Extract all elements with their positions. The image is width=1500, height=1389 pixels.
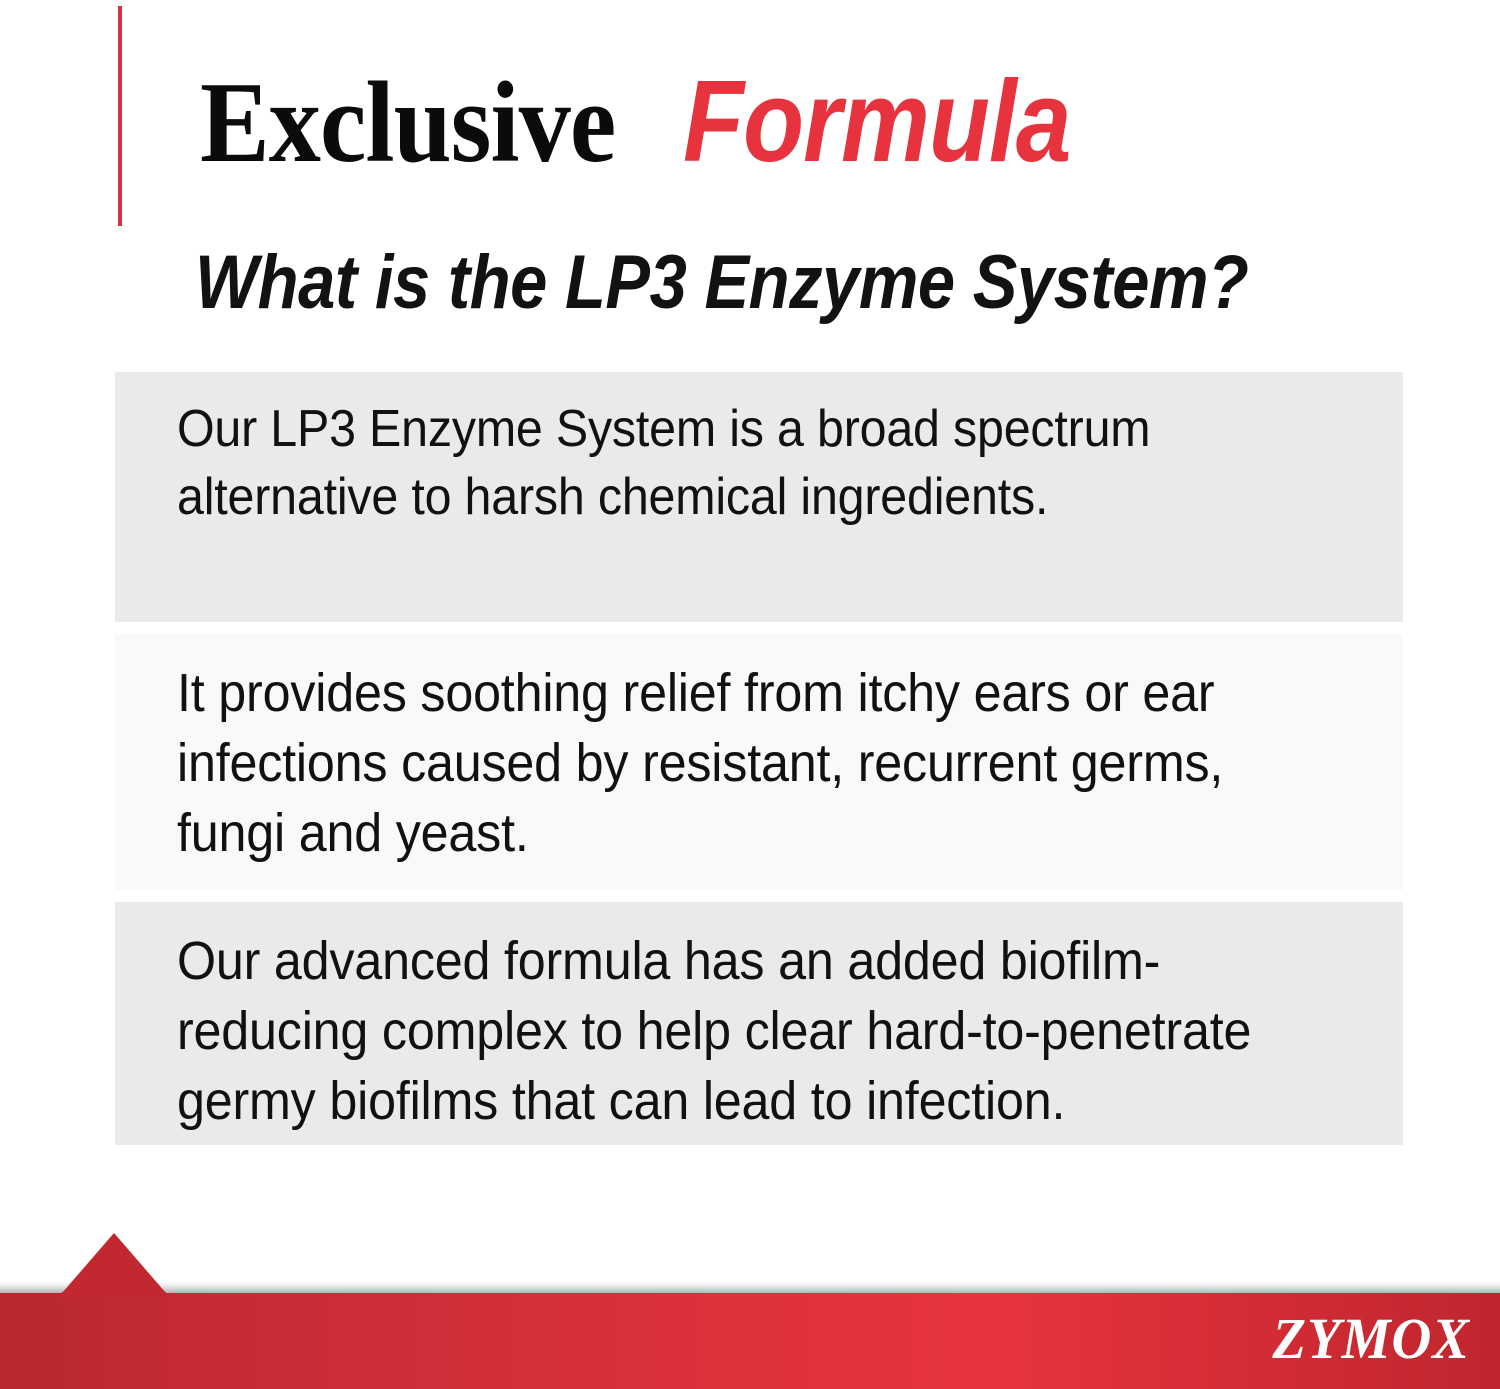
brand-logo-text: ZYMOX: [1272, 1308, 1470, 1370]
page-title: ExclusiveFormula: [200, 56, 1360, 186]
page-subtitle-text: What is the LP3 Enzyme System?: [195, 238, 1248, 328]
info-panel-3: Our advanced formula has an added biofil…: [115, 902, 1403, 1145]
footer-triangle-peak-icon: [62, 1233, 166, 1293]
info-panel-2-text: It provides soothing relief from itchy e…: [177, 658, 1260, 869]
header-accent-rule: [118, 6, 122, 226]
footer-banner: ZYMOX: [0, 1230, 1500, 1389]
footer-silver-strip: [0, 1282, 1500, 1293]
info-panel-2: It provides soothing relief from itchy e…: [115, 634, 1403, 890]
info-panel-1: Our LP3 Enzyme System is a broad spectru…: [115, 372, 1403, 622]
page-title-accent: Formula: [683, 56, 1071, 186]
page-subtitle: What is the LP3 Enzyme System?: [195, 238, 1395, 328]
info-panel-1-text: Our LP3 Enzyme System is a broad spectru…: [177, 396, 1260, 531]
infographic-page: ExclusiveFormula What is the LP3 Enzyme …: [0, 0, 1500, 1389]
info-panel-3-text: Our advanced formula has an added biofil…: [177, 926, 1260, 1137]
brand-logo: ZYMOX: [1262, 1308, 1470, 1370]
page-title-primary: Exclusive: [200, 58, 615, 188]
